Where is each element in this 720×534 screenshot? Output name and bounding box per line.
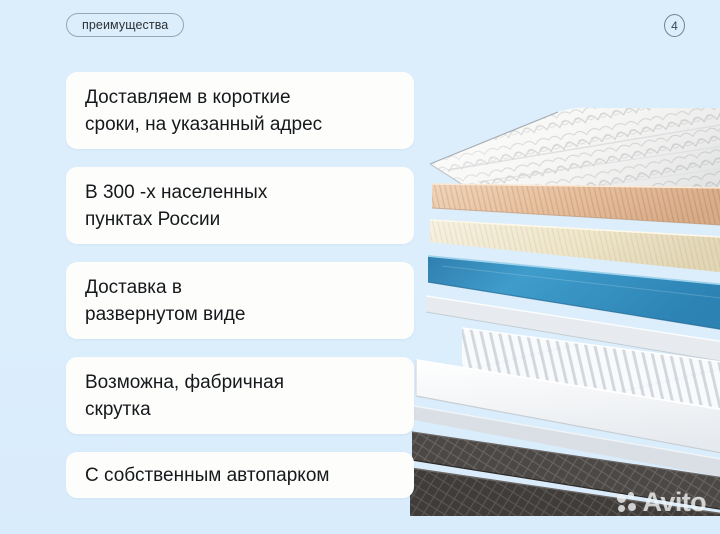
feature-card-line: Доставка в: [85, 274, 395, 301]
section-tag-label: преимущества: [82, 19, 168, 32]
feature-card-line: сроки, на указанный адрес: [85, 111, 395, 138]
feature-card: Доставляем в короткие сроки, на указанны…: [66, 72, 414, 149]
mattress-svg: [408, 96, 720, 516]
feature-card-line: пунктах России: [85, 206, 395, 233]
feature-card-line: развернутом виде: [85, 301, 395, 328]
section-tag-badge: преимущества: [66, 13, 184, 37]
page-number-label: 4: [671, 20, 678, 32]
slide-canvas: преимущества 4 Доставляем в короткие сро…: [0, 0, 720, 534]
feature-card: Возможна, фабричная скрутка: [66, 357, 414, 434]
layer-peach-foam: [432, 184, 720, 226]
avito-logo-icon: [617, 492, 638, 513]
feature-card: С собственным автопарком: [66, 452, 414, 498]
feature-card-line: С собственным автопарком: [85, 462, 395, 489]
avito-watermark: Avito: [617, 489, 707, 516]
page-number-badge: 4: [664, 14, 685, 37]
feature-card-list: Доставляем в короткие сроки, на указанны…: [66, 72, 414, 498]
mattress-layer-cutaway-illustration: [408, 96, 720, 516]
feature-card: Доставка в развернутом виде: [66, 262, 414, 339]
feature-card-line: Доставляем в короткие: [85, 84, 395, 111]
avito-wordmark: Avito: [643, 489, 707, 516]
feature-card-line: В 300 -х населенных: [85, 179, 395, 206]
feature-card-line: Возможна, фабричная: [85, 369, 395, 396]
feature-card: В 300 -х населенных пунктах России: [66, 167, 414, 244]
feature-card-line: скрутка: [85, 396, 395, 423]
